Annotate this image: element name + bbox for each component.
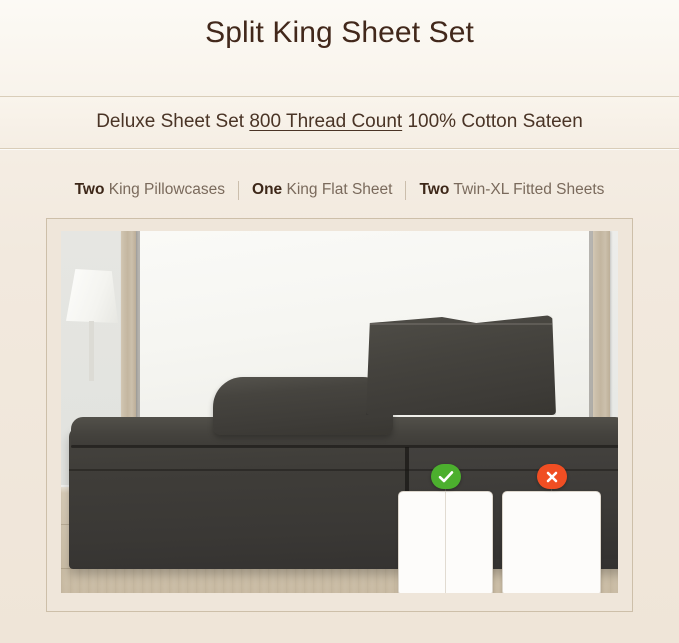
page-title: Split King Sheet Set — [0, 13, 679, 53]
feature-count: Two — [75, 181, 105, 198]
product-photo — [61, 231, 618, 593]
single-king-sheet-diagram — [502, 491, 601, 593]
feature-label: King Flat Sheet — [282, 181, 392, 198]
twin-xl-sheet-right — [445, 492, 492, 593]
divider-bottom-highlight — [0, 149, 679, 150]
twin-xl-sheet-left — [399, 492, 445, 593]
king-pillow — [366, 315, 556, 415]
subtitle-prefix: Deluxe Sheet Set — [96, 111, 249, 132]
lamp-stem-left — [89, 321, 94, 381]
feature-label: King Pillowcases — [104, 181, 225, 198]
close-icon — [545, 470, 559, 484]
fitted-sheet-edge — [69, 469, 618, 471]
feature-list: Two King Pillowcases One King Flat Sheet… — [0, 178, 679, 202]
flat-sheet-hem — [71, 445, 618, 448]
feature-item-pillowcases: Two King Pillowcases — [62, 178, 238, 202]
bolster-pillow — [213, 377, 393, 435]
product-infographic: Split King Sheet Set Deluxe Sheet Set 80… — [0, 0, 679, 643]
feature-count: One — [252, 181, 282, 198]
feature-item-flat-sheet: One King Flat Sheet — [239, 178, 405, 202]
pillowcase-hem — [370, 323, 552, 325]
subtitle-suffix: 100% Cotton Sateen — [402, 111, 583, 132]
thread-count-emphasis: 800 Thread Count — [249, 111, 402, 132]
feature-label: Twin-XL Fitted Sheets — [449, 181, 604, 198]
two-twin-xl-sheets-diagram — [398, 491, 493, 593]
product-photo-frame — [46, 218, 633, 612]
product-subtitle: Deluxe Sheet Set 800 Thread Count 100% C… — [0, 108, 679, 136]
cross-badge — [537, 464, 567, 489]
feature-count: Two — [419, 181, 449, 198]
check-icon — [438, 470, 454, 484]
feature-item-fitted-sheets: Two Twin-XL Fitted Sheets — [406, 178, 617, 202]
check-badge — [431, 464, 461, 489]
